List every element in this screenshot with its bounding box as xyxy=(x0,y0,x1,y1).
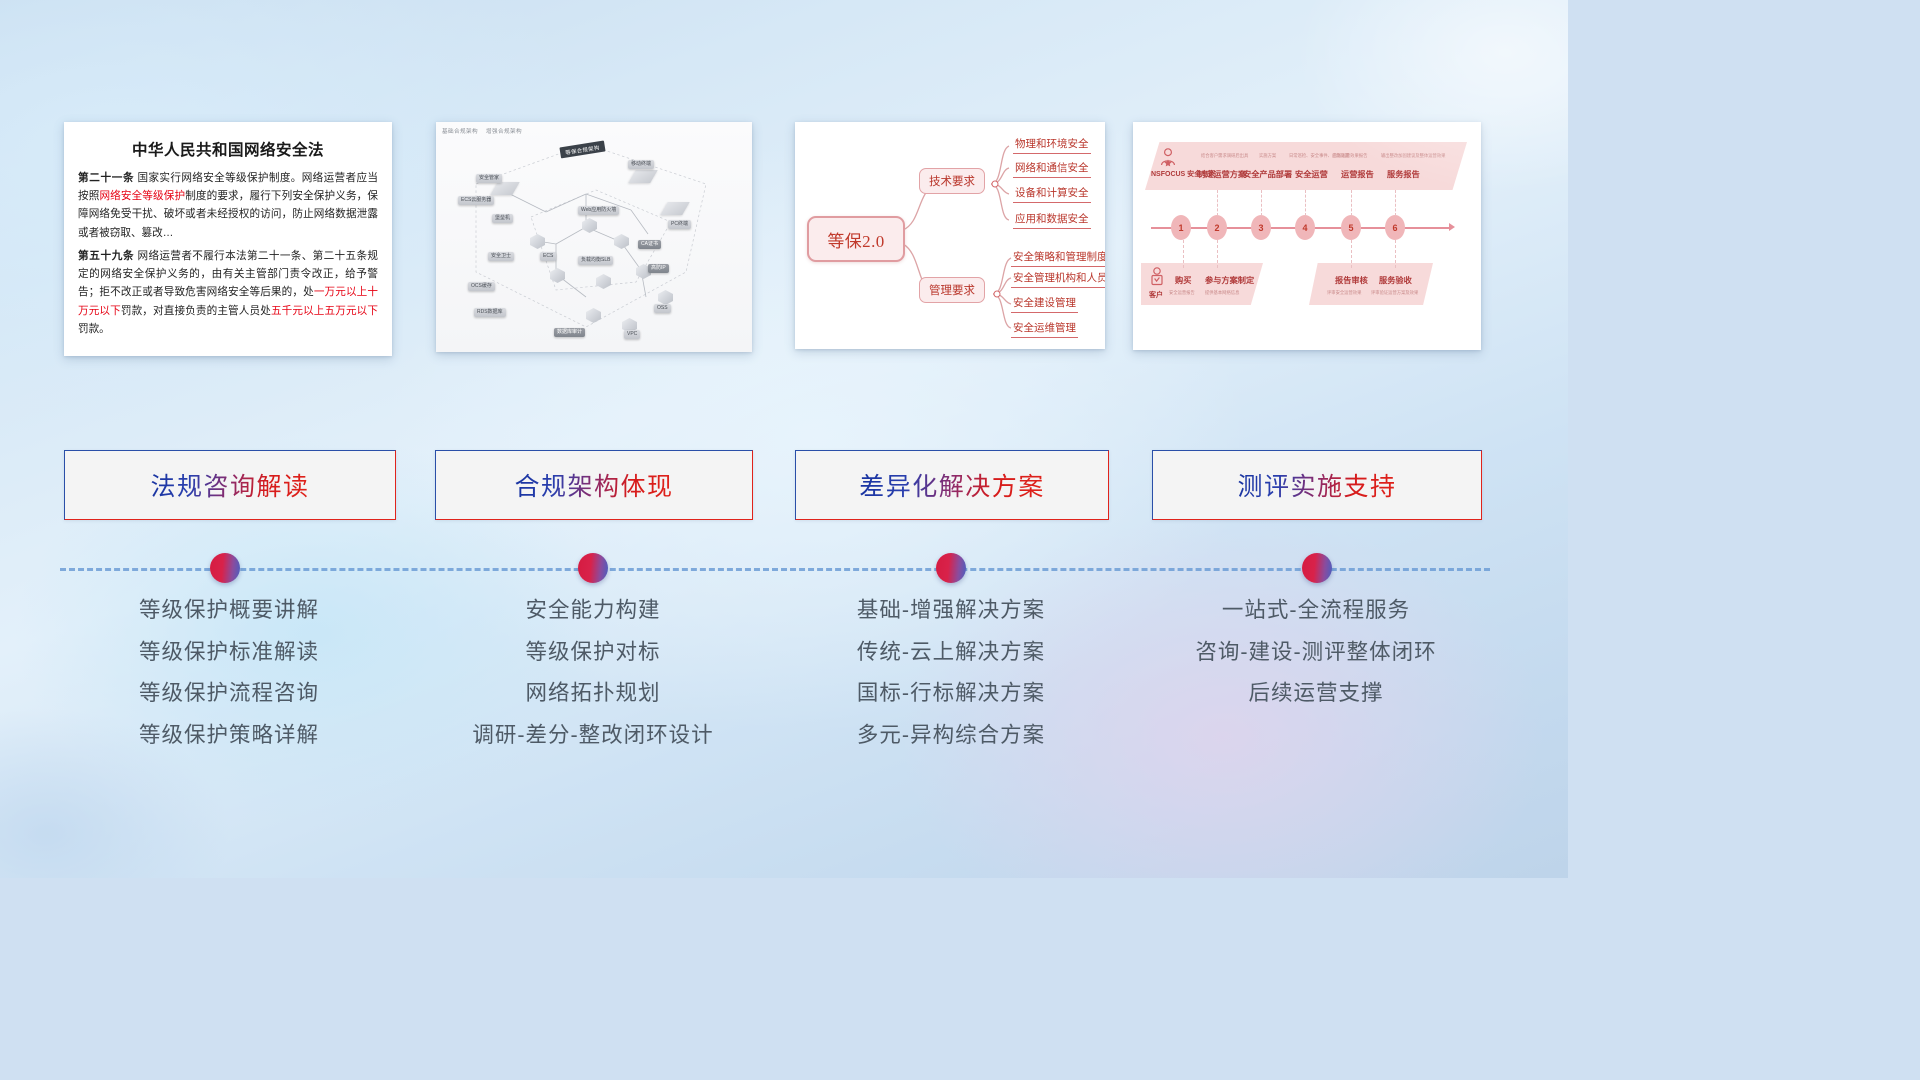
roadmap-connector xyxy=(1261,190,1263,216)
architecture-endpoint-mobile: 移动终端 xyxy=(628,160,654,169)
expert-person-icon xyxy=(1159,148,1177,168)
section-header-regulation-consulting[interactable]: 法规咨询解读 xyxy=(64,450,396,520)
roadmap-customer-step-sub: 安全运营报告 xyxy=(1169,290,1195,296)
roadmap-step-dot: 3 xyxy=(1251,215,1271,240)
list-item: 多元-异构综合方案 xyxy=(795,725,1107,747)
detail-lists-row: 等级保护概要讲解 等级保护标准解读 等级保护流程咨询 等级保护策略详解 安全能力… xyxy=(0,600,1568,820)
card-mindmap-dengbao: 等保2.0 技术要求 管理要求 物理和环境安全 网络和通信安全 设备和计算安全 … xyxy=(795,122,1105,349)
roadmap-connector xyxy=(1305,190,1307,216)
list-item: 等级保护策略详解 xyxy=(64,725,394,747)
roadmap-step-title: 制定运营方案 xyxy=(1197,168,1246,180)
architecture-diagram: 基础合规架构增强合规架构 等保合 xyxy=(436,122,752,352)
page-background: 中华人民共和国网络安全法 第二十一条 国家实行网络安全等级保护制度。网络运营者应… xyxy=(0,0,1568,878)
mindmap-leaf: 安全运维管理 xyxy=(1011,320,1078,338)
roadmap-step-sub: 实施方案 xyxy=(1259,153,1276,159)
roadmap-step-dot: 2 xyxy=(1207,215,1227,240)
timeline-dot-3[interactable] xyxy=(936,553,966,583)
mindmap-leaf: 安全建设管理 xyxy=(1011,295,1078,313)
list-item: 等级保护标准解读 xyxy=(64,642,394,664)
list-item: 国标-行标解决方案 xyxy=(795,683,1107,705)
card-compliance-architecture: 基础合规架构增强合规架构 等保合 xyxy=(436,122,752,352)
roadmap-customer-step-title: 报告审核 xyxy=(1335,274,1368,286)
article-59-highlight-2: 五千元以上五万元以下 xyxy=(271,305,378,317)
architecture-node: 安全卫士 xyxy=(488,252,514,261)
roadmap-step-title: 安全产品部署 xyxy=(1243,168,1292,180)
roadmap-customer-step-sub: 评审验证运营方案及效果 xyxy=(1371,290,1418,296)
mindmap: 等保2.0 技术要求 管理要求 物理和环境安全 网络和通信安全 设备和计算安全 … xyxy=(795,122,1105,349)
roadmap-customer-step-sub: 提供基本网络信息 xyxy=(1205,290,1239,296)
section-header-label: 法规咨询解读 xyxy=(150,467,309,503)
section-header-label: 合规架构体现 xyxy=(514,467,673,503)
list-item: 等级保护概要讲解 xyxy=(64,600,394,622)
timeline xyxy=(0,540,1568,600)
list-item: 安全能力构建 xyxy=(435,600,751,622)
roadmap-arrow-icon xyxy=(1449,223,1455,231)
roadmap-step-title: 运营报告 xyxy=(1341,168,1374,180)
roadmap-connector xyxy=(1395,240,1397,268)
list-item: 网络拓扑规划 xyxy=(435,683,751,705)
roadmap-connector xyxy=(1395,190,1397,216)
list-item: 等级保护流程咨询 xyxy=(64,683,394,705)
section-header-label: 测评实施支持 xyxy=(1237,467,1396,503)
architecture-node: ECS云服务器 xyxy=(458,196,494,205)
section-header-differentiated-solutions[interactable]: 差异化解决方案 xyxy=(795,450,1109,520)
list-item: 等级保护对标 xyxy=(435,642,751,664)
detail-list-regulation-consulting: 等级保护概要讲解 等级保护标准解读 等级保护流程咨询 等级保护策略详解 xyxy=(64,600,394,766)
law-article-21: 第二十一条 国家实行网络安全等级保护制度。网络运营者应当按照网络安全等级保护制度… xyxy=(78,169,378,242)
roadmap-connector xyxy=(1183,240,1185,268)
list-item: 咨询-建设-测评整体闭环 xyxy=(1152,642,1480,664)
roadmap-customer-step-title: 参与方案制定 xyxy=(1205,274,1254,286)
image-cards-row: 中华人民共和国网络安全法 第二十一条 国家实行网络安全等级保护制度。网络运营者应… xyxy=(0,122,1568,362)
timeline-dashed-line xyxy=(60,568,1490,571)
card-cybersecurity-law: 中华人民共和国网络安全法 第二十一条 国家实行网络安全等级保护制度。网络运营者应… xyxy=(64,122,392,356)
architecture-node-antiddos: 高防IP xyxy=(648,264,669,273)
timeline-dot-2[interactable] xyxy=(578,553,608,583)
list-item: 后续运营支撑 xyxy=(1152,683,1480,705)
timeline-dot-4[interactable] xyxy=(1302,553,1332,583)
roadmap-step-dot: 1 xyxy=(1171,215,1191,240)
roadmap-step-dot: 5 xyxy=(1341,215,1361,240)
roadmap-customer-band-right xyxy=(1309,263,1433,305)
roadmap-customer-step-title: 服务验收 xyxy=(1379,274,1412,286)
customer-person-icon xyxy=(1149,267,1165,287)
section-headers-row: 法规咨询解读 合规架构体现 差异化解决方案 测评实施支持 xyxy=(0,450,1568,518)
detail-list-differentiated-solutions: 基础-增强解决方案 传统-云上解决方案 国标-行标解决方案 多元-异构综合方案 xyxy=(795,600,1107,766)
roadmap-connector xyxy=(1351,240,1353,268)
architecture-endpoint-pc: PC终端 xyxy=(668,220,691,229)
roadmap-step-title: 安全运营 xyxy=(1295,168,1328,180)
article-59-label: 第五十九条 xyxy=(78,250,134,262)
architecture-node-oss: OSS xyxy=(654,304,671,313)
article-59-text-c: 罚款。 xyxy=(78,323,110,335)
mindmap-leaf: 网络和通信安全 xyxy=(1013,160,1091,178)
detail-list-assessment-support: 一站式-全流程服务 咨询-建设-测评整体闭环 后续运营支撑 xyxy=(1152,600,1480,725)
roadmap-connector xyxy=(1217,240,1219,268)
architecture-node-ecs: ECS xyxy=(540,252,556,261)
list-item: 基础-增强解决方案 xyxy=(795,600,1107,622)
roadmap-customer-step-sub: 评审安全运营效果 xyxy=(1327,290,1361,296)
list-item: 一站式-全流程服务 xyxy=(1152,600,1480,622)
section-header-assessment-support[interactable]: 测评实施支持 xyxy=(1152,450,1482,520)
section-header-label: 差异化解决方案 xyxy=(859,467,1045,503)
roadmap-step-sub: 结合客户需求调研后出具 xyxy=(1201,153,1248,159)
article-59-text-b: 罚款，对直接负责的主管人员处 xyxy=(121,305,271,317)
mindmap-root: 等保2.0 xyxy=(807,216,905,262)
roadmap-step-sub: 阶段运营效果报告 xyxy=(1333,153,1367,159)
law-body: 中华人民共和国网络安全法 第二十一条 国家实行网络安全等级保护制度。网络运营者应… xyxy=(64,122,392,356)
section-header-compliance-architecture[interactable]: 合规架构体现 xyxy=(435,450,753,520)
roadmap-step-dot: 4 xyxy=(1295,215,1315,240)
mindmap-leaf: 安全策略和管理制度 xyxy=(1011,249,1105,267)
mindmap-leaf: 设备和计算安全 xyxy=(1013,185,1091,203)
mindmap-branch-management: 管理要求 xyxy=(919,277,985,303)
roadmap-customer-step-title: 购买 xyxy=(1175,274,1191,286)
mindmap-leaf: 应用和数据安全 xyxy=(1013,211,1091,229)
law-article-59: 第五十九条 网络运营者不履行本法第二十一条、第二十五条规定的网络安全保护义务的，… xyxy=(78,247,378,338)
mindmap-branch-technical: 技术要求 xyxy=(919,168,985,194)
architecture-node: 数据库审计 xyxy=(554,328,585,337)
list-item: 传统-云上解决方案 xyxy=(795,642,1107,664)
architecture-node-slb: 负载均衡SLB xyxy=(578,256,613,265)
architecture-node: 堡垒机 xyxy=(492,214,513,223)
article-21-highlight: 网络安全等级保护 xyxy=(99,190,185,202)
architecture-node-waf: Web应用防火墙 xyxy=(578,206,619,215)
list-item: 调研-差分-整改闭环设计 xyxy=(435,725,751,747)
architecture-node: OCS缓存 xyxy=(468,282,495,291)
architecture-node-vpc: VPC xyxy=(624,330,640,339)
card-service-roadmap: NSFOCUS 安全专家 客户 1 2 3 4 5 6 xyxy=(1133,122,1481,350)
roadmap-connector xyxy=(1217,190,1219,216)
timeline-dot-1[interactable] xyxy=(210,553,240,583)
roadmap-customer-label: 客户 xyxy=(1149,290,1163,300)
architecture-node: 安全管家 xyxy=(476,174,502,183)
roadmap-step-sub: 输出整改加固建议及整体运营效果 xyxy=(1381,153,1445,159)
law-title: 中华人民共和国网络安全法 xyxy=(78,138,378,160)
roadmap-step-dot: 6 xyxy=(1385,215,1405,240)
detail-list-compliance-architecture: 安全能力构建 等级保护对标 网络拓扑规划 调研-差分-整改闭环设计 xyxy=(435,600,751,766)
mindmap-leaf: 物理和环境安全 xyxy=(1013,136,1091,154)
roadmap-step-title: 服务报告 xyxy=(1387,168,1420,180)
architecture-node-ca: CA证书 xyxy=(638,240,661,249)
mindmap-leaf: 安全管理机构和人员 xyxy=(1011,270,1105,288)
roadmap: NSFOCUS 安全专家 客户 1 2 3 4 5 6 xyxy=(1133,122,1481,350)
architecture-node: RDS数据库 xyxy=(474,308,506,317)
roadmap-vendor-band xyxy=(1145,142,1467,190)
roadmap-connector xyxy=(1351,190,1353,216)
article-21-label: 第二十一条 xyxy=(78,172,134,184)
